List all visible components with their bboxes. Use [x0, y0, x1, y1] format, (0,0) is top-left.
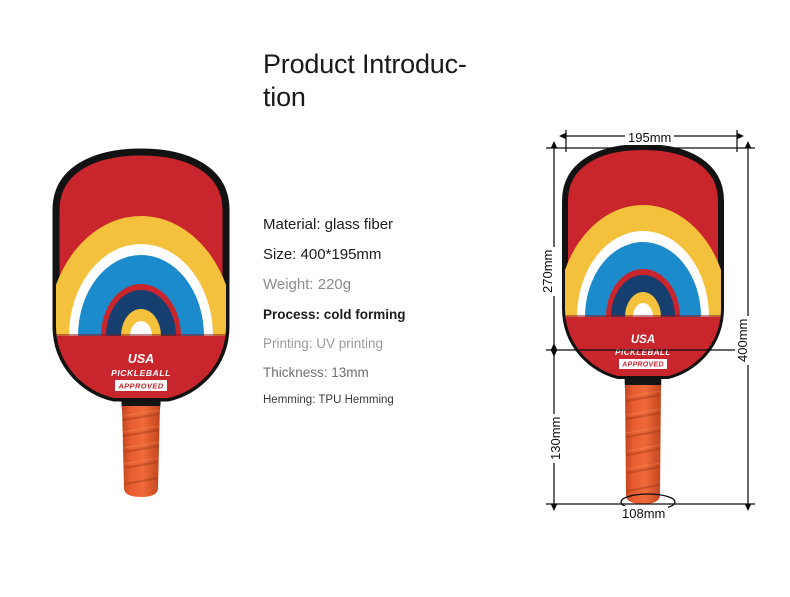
paddle-handle	[624, 363, 662, 504]
dim-label-108mm: 108mm	[619, 506, 668, 521]
badge-line-approved: APPROVED	[117, 382, 163, 391]
spec-weight: Weight: 220g	[263, 270, 493, 300]
product-spec-list: Material: glass fiber Size: 400*195mm We…	[263, 210, 493, 413]
product-image-paddle-left: USA PICKLEBALL APPROVED	[48, 148, 234, 500]
product-image-paddle-right: USA PICKLEBALL APPROVED	[558, 143, 728, 509]
spec-material: Material: glass fiber	[263, 210, 493, 240]
spec-process: Process: cold forming	[263, 300, 493, 329]
dim-label-130mm: 130mm	[548, 414, 563, 463]
spec-printing: Printing: UV printing	[263, 329, 493, 358]
dim-label-270mm: 270mm	[540, 247, 555, 296]
page-title: Product Introduc- tion	[263, 48, 513, 114]
dim-label-195mm: 195mm	[625, 130, 674, 145]
dim-label-400mm: 400mm	[735, 316, 750, 365]
spec-thickness: Thickness: 13mm	[263, 358, 493, 387]
badge-line-pickleball: PICKLEBALL	[615, 348, 671, 357]
spec-hemming: Hemming: TPU Hemming	[263, 387, 493, 413]
spec-size: Size: 400*195mm	[263, 240, 493, 270]
badge-line-usa: USA	[128, 352, 154, 366]
badge-line-pickleball: PICKLEBALL	[111, 368, 171, 378]
badge-line-approved: APPROVED	[621, 362, 664, 369]
badge-line-usa: USA	[631, 334, 655, 346]
